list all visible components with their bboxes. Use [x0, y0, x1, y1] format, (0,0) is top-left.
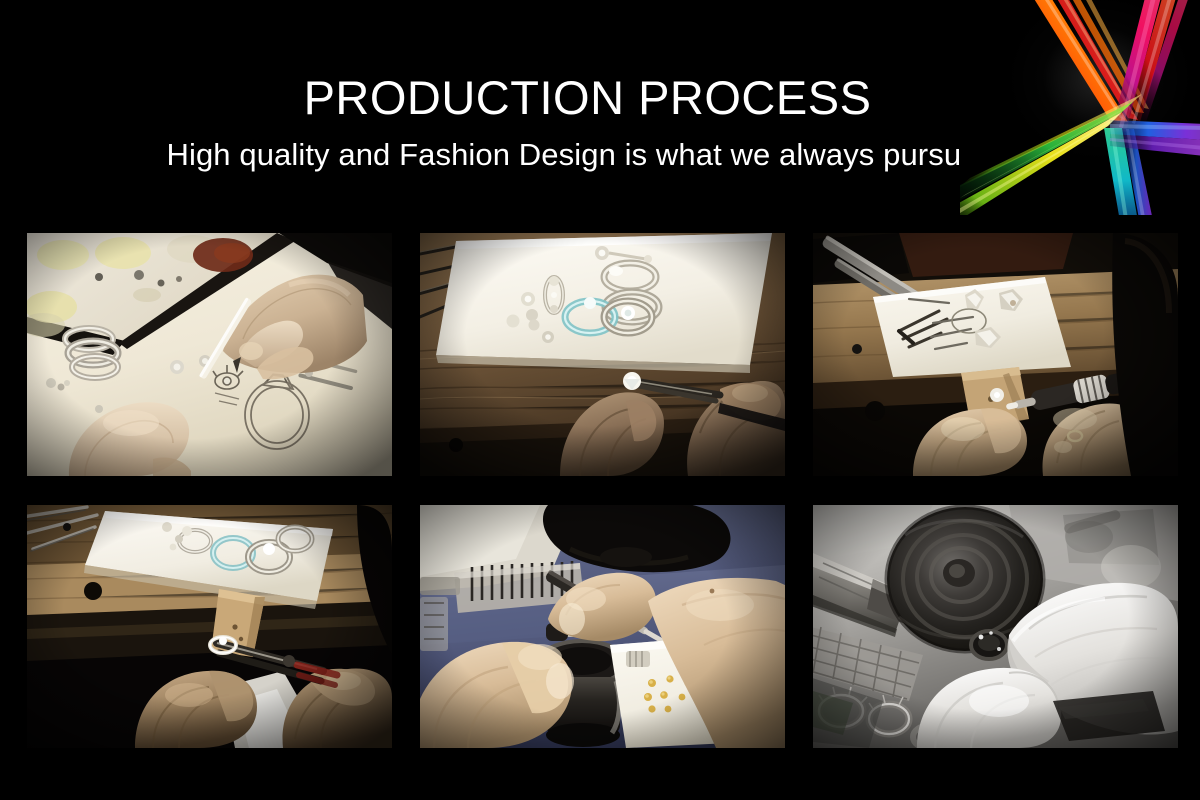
wax-carving-photo: [813, 233, 1178, 476]
page-title: PRODUCTION PROCESS: [0, 74, 1175, 121]
process-photo-tile[interactable]: [420, 233, 785, 476]
stone-selection-photo: [420, 233, 785, 476]
header: PRODUCTION PROCESS High quality and Fash…: [0, 0, 1200, 215]
page-subtitle: High quality and Fashion Design is what …: [0, 138, 1145, 172]
process-photo-tile[interactable]: [27, 233, 392, 476]
process-photo-tile[interactable]: [27, 505, 392, 748]
stone-setting-photo: [420, 505, 785, 748]
polishing-photo: [813, 505, 1178, 748]
process-photo-tile[interactable]: [813, 505, 1178, 748]
process-photo-tile[interactable]: [813, 233, 1178, 476]
process-photo-tile[interactable]: [420, 505, 785, 748]
metal-forming-photo: [27, 505, 392, 748]
design-sketching-photo: [27, 233, 392, 476]
process-photo-grid: [27, 233, 1178, 748]
production-process-banner: PRODUCTION PROCESS High quality and Fash…: [0, 0, 1200, 800]
